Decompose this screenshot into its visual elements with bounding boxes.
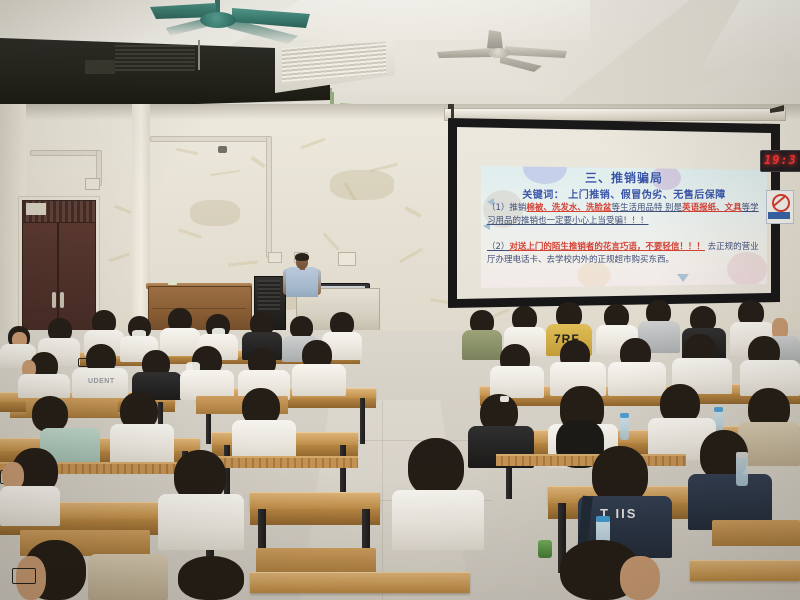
wall-blotch xyxy=(330,170,394,200)
slide-point-1: （1）推销棉被、洗发水、洗脸盆等生活用品特 别是英语报纸、文具等学习用品的推销也… xyxy=(487,202,763,228)
slide-point-2-highlight-a: 对送上门的陌生推销者的花言巧语，不要轻信！！！ xyxy=(509,242,705,252)
bench-seat xyxy=(212,456,358,468)
student-head xyxy=(32,396,68,432)
water-bottle xyxy=(736,456,748,486)
student-torso xyxy=(462,330,502,360)
bottle-cap xyxy=(736,452,748,458)
floor-tile-line xyxy=(382,400,383,600)
door-handle[interactable] xyxy=(60,292,64,308)
student-torso xyxy=(18,374,70,398)
slide-decor-triangle xyxy=(677,274,689,282)
student-torso xyxy=(292,364,346,396)
bench-backrest xyxy=(712,520,800,546)
power-outlet xyxy=(85,178,100,190)
slide-point-2: （2）对送上门的陌生推销者的花言巧语，不要轻信！！！ 去正规的营业厅办理电话卡、… xyxy=(487,241,763,267)
slide-point-1-highlight-b: 英语报纸、文具 xyxy=(682,203,742,213)
cabinet-seam xyxy=(152,308,246,309)
power-outlet xyxy=(268,252,282,263)
door-handle[interactable] xyxy=(52,292,56,308)
ceiling-fan-teal-hub xyxy=(200,12,236,28)
shirt-graphic-udent: UDENT xyxy=(88,378,115,385)
cabinet-item xyxy=(168,279,177,285)
clock-time-display: 19:3 xyxy=(764,153,797,167)
slide-point-1-lead: （1）推销 xyxy=(487,203,526,213)
classroom-photo: 三、推销骗局 关键词： 上门推销、假冒伪劣、无售后保障 （1）推销棉被、洗发水、… xyxy=(0,0,800,600)
desk-leg xyxy=(360,398,365,444)
bench-seat xyxy=(496,454,686,466)
student-torso xyxy=(158,494,244,550)
slide-point-1-mid: 等生活用品特 别是 xyxy=(611,203,682,213)
bottle-cap xyxy=(620,413,629,418)
slide-keywords: 关键词： 上门推销、假冒伪劣、无售后保障 xyxy=(481,186,767,201)
student-torso xyxy=(608,362,666,396)
glasses xyxy=(78,358,89,367)
wall-blotch xyxy=(190,200,240,226)
bottle-cap xyxy=(714,407,723,412)
slide-point-2-lead: （2） xyxy=(487,242,509,252)
bottle-cap xyxy=(596,516,610,522)
wooden-cabinet xyxy=(148,286,252,334)
water-bottle xyxy=(620,416,629,440)
duct-access-panel xyxy=(85,60,115,74)
conduit-pipe xyxy=(150,136,272,142)
ceiling-fan-gray-blade xyxy=(487,30,503,50)
presenter-hair xyxy=(295,253,309,261)
desk-front xyxy=(250,509,380,525)
student-torso xyxy=(232,420,296,460)
desk-row-5-right xyxy=(690,560,800,581)
speaker-grille xyxy=(258,280,280,310)
student-torso xyxy=(110,424,174,464)
ceiling-fan-gray-hub xyxy=(488,48,510,58)
hair-clip xyxy=(500,396,509,402)
student-torso xyxy=(0,486,60,526)
desk-row-5-center xyxy=(250,572,470,593)
conduit-pipe xyxy=(30,150,102,156)
student-torso xyxy=(392,490,484,550)
student-head xyxy=(178,556,244,600)
door-sign xyxy=(26,203,46,215)
conduit-pipe-vertical xyxy=(266,136,272,258)
sign-blue-band xyxy=(768,212,790,219)
slide-point-1-highlight-a: 棉被、洗发水、洗脸盆 xyxy=(526,203,611,213)
presentation-slide: 三、推销骗局 关键词： 上门推销、假冒伪劣、无售后保障 （1）推销棉被、洗发水、… xyxy=(481,166,767,288)
glasses xyxy=(12,568,36,584)
wall-sensor xyxy=(218,146,227,153)
hanging-wire xyxy=(198,40,200,70)
student-head xyxy=(408,438,464,496)
student-torso xyxy=(88,554,168,600)
junction-box xyxy=(338,252,356,266)
student-face xyxy=(620,556,660,600)
duct-vent xyxy=(115,45,195,71)
green-can xyxy=(538,540,552,558)
slide-title: 三、推销骗局 xyxy=(481,169,767,186)
digital-wall-clock: 19:3 xyxy=(760,150,800,172)
presenter-torso xyxy=(286,267,318,297)
